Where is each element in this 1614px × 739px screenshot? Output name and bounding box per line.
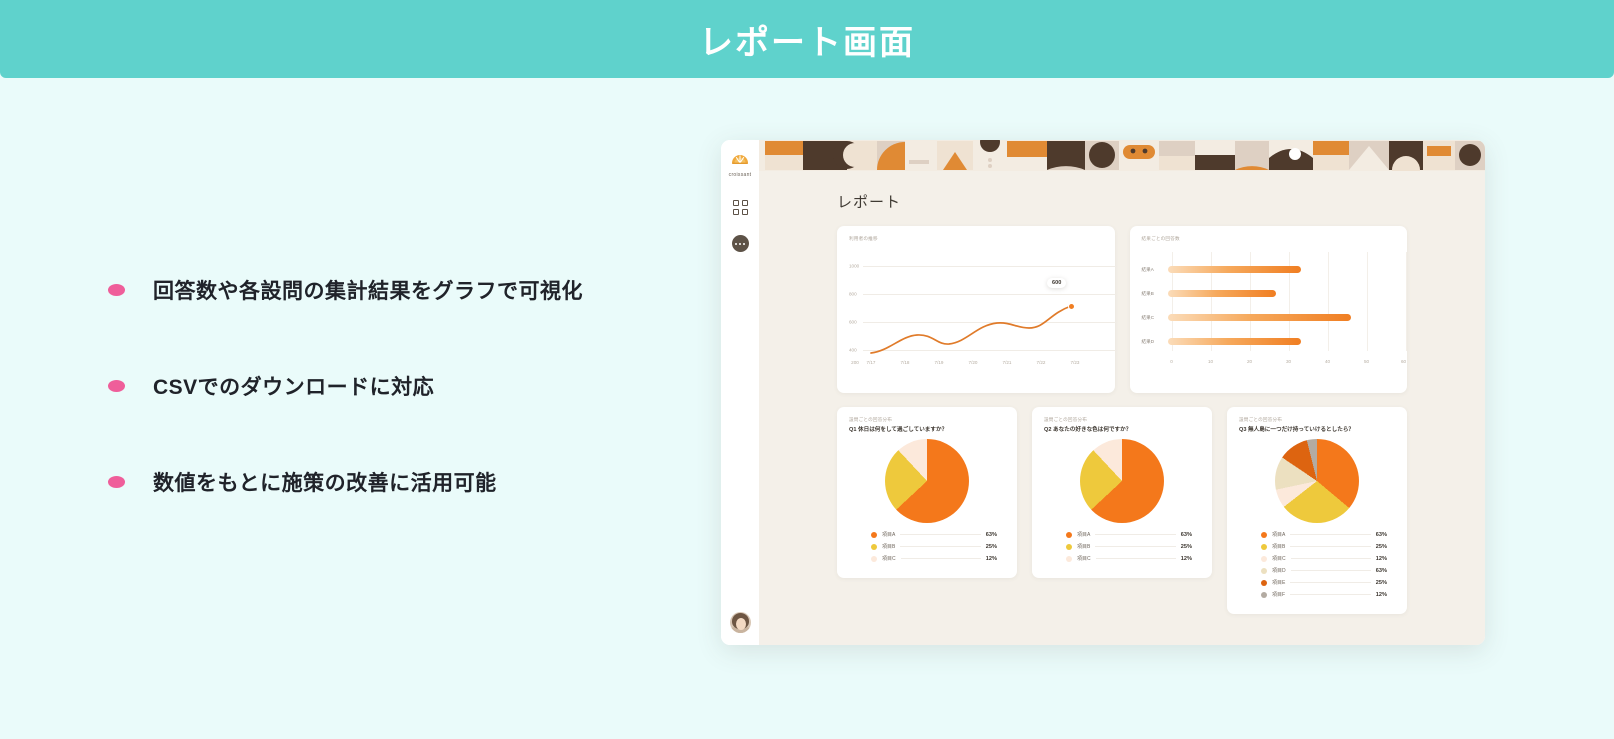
- logo-wordmark: croissant: [729, 172, 752, 178]
- legend-value: 63%: [1376, 568, 1387, 574]
- bar-chart-card: 結果ごとの回答数 結果A 結果B: [1130, 226, 1408, 393]
- legend-label: 項目B: [1272, 543, 1285, 550]
- pie-legend: 項目A 63% 項目B 25% 項目C 12%: [1044, 531, 1200, 569]
- legend-item: 項目B 25%: [871, 543, 997, 550]
- x-tick-label: 200: [851, 360, 859, 365]
- bullet-marker-icon: [108, 380, 125, 392]
- x-tick-label: 7/21: [1003, 360, 1012, 365]
- legend-value: 63%: [1181, 532, 1192, 538]
- bar-chart-title: 結果ごとの回答数: [1142, 236, 1396, 242]
- app-content: レポート 利用者の推移 1000 800 600 400: [759, 140, 1485, 645]
- line-chart-title: 利用者の推移: [849, 236, 1103, 242]
- legend-label: 項目C: [882, 555, 896, 562]
- legend-value: 25%: [1376, 544, 1387, 550]
- bullet-marker-icon: [108, 284, 125, 296]
- avatar[interactable]: [730, 612, 751, 633]
- legend-swatch-icon: [1261, 544, 1267, 550]
- pie-charts-row: 設問ごとの回答分布 Q1 休日は何をして過ごしていますか？ 項目A 63% 項目…: [759, 393, 1485, 614]
- legend-swatch-icon: [1066, 544, 1072, 550]
- legend-item: 項目C 12%: [871, 555, 997, 562]
- x-tick-label: 30: [1286, 359, 1291, 364]
- legend-swatch-icon: [1261, 532, 1267, 538]
- legend-swatch-icon: [871, 544, 877, 550]
- pie-chart-card-q2: 設問ごとの回答分布 Q2 あなたの好きな色は何ですか？ 項目A 63% 項目B …: [1032, 407, 1212, 578]
- pie-chart-graphic: [1275, 439, 1359, 523]
- legend-swatch-icon: [871, 532, 877, 538]
- bullet-text: 数値をもとに施策の改善に活用可能: [153, 467, 497, 497]
- legend-label: 項目B: [1077, 543, 1090, 550]
- legend-swatch-icon: [871, 556, 877, 562]
- table-row: 結果A: [1142, 266, 1410, 273]
- report-page-title: レポート: [837, 191, 1485, 212]
- list-item: 数値をもとに施策の改善に活用可能: [108, 467, 668, 497]
- bar-chart-plot: 結果A 結果B 結果C 結果D 0: [1142, 252, 1410, 364]
- legend-item: 項目C 12%: [1066, 555, 1192, 562]
- line-chart-card: 利用者の推移 1000 800 600 400 600 200: [837, 226, 1115, 393]
- legend-label: 項目A: [882, 531, 895, 538]
- legend-swatch-icon: [1261, 580, 1267, 586]
- legend-item: 項目A 63%: [871, 531, 997, 538]
- legend-value: 12%: [1376, 592, 1387, 598]
- pie-chart-graphic: [885, 439, 969, 523]
- sidebar-item-messages[interactable]: [732, 235, 749, 252]
- table-row: 結果C: [1142, 314, 1410, 321]
- line-endpoint-marker: [1068, 303, 1075, 310]
- x-tick-label: 0: [1170, 359, 1173, 364]
- legend-item: 項目B 25%: [1261, 543, 1387, 550]
- x-tick-label: 10: [1208, 359, 1213, 364]
- legend-label: 項目D: [1272, 567, 1286, 574]
- legend-label: 項目B: [882, 543, 895, 550]
- grid-icon: [733, 200, 748, 215]
- bar-category-label: 結果C: [1142, 315, 1168, 321]
- x-tick-label: 7/18: [901, 360, 910, 365]
- legend-label: 項目C: [1272, 555, 1286, 562]
- bar-category-label: 結果B: [1142, 291, 1168, 297]
- pie-legend: 項目A 63% 項目B 25% 項目C 12%: [1239, 531, 1395, 605]
- app-screenshot-mockup: croissant: [721, 140, 1485, 645]
- slide-header: レポート画面: [0, 0, 1614, 78]
- sidebar-item-dashboard[interactable]: [733, 200, 748, 215]
- page-title: レポート画面: [699, 15, 915, 64]
- x-tick-label: 60: [1401, 359, 1406, 364]
- pie-card-subtitle: 設問ごとの回答分布: [1044, 417, 1200, 423]
- legend-label: 項目A: [1077, 531, 1090, 538]
- legend-swatch-icon: [1066, 532, 1072, 538]
- legend-value: 12%: [1181, 556, 1192, 562]
- x-tick-label: 7/20: [969, 360, 978, 365]
- pie-chart-card-q1: 設問ごとの回答分布 Q1 休日は何をして過ごしていますか？ 項目A 63% 項目…: [837, 407, 1017, 578]
- legend-value: 12%: [1376, 556, 1387, 562]
- pie-card-subtitle: 設問ごとの回答分布: [1239, 417, 1395, 423]
- table-row: 結果D: [1142, 338, 1410, 345]
- x-tick-label: 40: [1325, 359, 1330, 364]
- top-charts-row: 利用者の推移 1000 800 600 400 600 200: [759, 226, 1485, 393]
- pie-legend: 項目A 63% 項目B 25% 項目C 12%: [849, 531, 1005, 569]
- legend-label: 項目C: [1077, 555, 1091, 562]
- decorative-banner: [759, 140, 1485, 171]
- legend-value: 12%: [986, 556, 997, 562]
- pie-chart-graphic: [1080, 439, 1164, 523]
- legend-item: 項目E 25%: [1261, 579, 1387, 586]
- legend-item: 項目B 25%: [1066, 543, 1192, 550]
- legend-item: 項目A 63%: [1066, 531, 1192, 538]
- pie-card-question: Q3 無人島に一つだけ持っていけるとしたら？: [1239, 425, 1395, 433]
- x-tick-label: 50: [1364, 359, 1369, 364]
- table-row: 結果B: [1142, 290, 1410, 297]
- bullet-text: CSVでのダウンロードに対応: [153, 371, 434, 401]
- pie-card-question: Q2 あなたの好きな色は何ですか？: [1044, 425, 1200, 433]
- x-tick-label: 7/22: [1037, 360, 1046, 365]
- legend-label: 項目F: [1272, 591, 1285, 598]
- pie-card-subtitle: 設問ごとの回答分布: [849, 417, 1005, 423]
- legend-value: 25%: [986, 544, 997, 550]
- legend-item: 項目C 12%: [1261, 555, 1387, 562]
- list-item: CSVでのダウンロードに対応: [108, 371, 668, 401]
- bar-category-label: 結果A: [1142, 267, 1168, 273]
- bar-category-label: 結果D: [1142, 339, 1168, 345]
- x-tick-label: 20: [1247, 359, 1252, 364]
- legend-swatch-icon: [1066, 556, 1072, 562]
- chat-icon: [732, 235, 749, 252]
- bullet-text: 回答数や各設問の集計結果をグラフで可視化: [153, 275, 583, 305]
- x-tick-label: 7/19: [935, 360, 944, 365]
- legend-value: 25%: [1181, 544, 1192, 550]
- x-tick-label: 7/17: [867, 360, 876, 365]
- legend-swatch-icon: [1261, 568, 1267, 574]
- pie-card-question: Q1 休日は何をして過ごしていますか？: [849, 425, 1005, 433]
- legend-value: 25%: [1376, 580, 1387, 586]
- legend-swatch-icon: [1261, 592, 1267, 598]
- feature-bullet-list: 回答数や各設問の集計結果をグラフで可視化 CSVでのダウンロードに対応 数値をも…: [108, 275, 668, 563]
- list-item: 回答数や各設問の集計結果をグラフで可視化: [108, 275, 668, 305]
- legend-item: 項目A 63%: [1261, 531, 1387, 538]
- pie-chart-card-q3: 設問ごとの回答分布 Q3 無人島に一つだけ持っていけるとしたら？ 項目A 63%…: [1227, 407, 1407, 614]
- legend-label: 項目A: [1272, 531, 1285, 538]
- line-chart-tooltip: 600: [1047, 278, 1066, 288]
- legend-value: 63%: [986, 532, 997, 538]
- legend-item: 項目D 63%: [1261, 567, 1387, 574]
- legend-label: 項目E: [1272, 579, 1285, 586]
- legend-swatch-icon: [1261, 556, 1267, 562]
- croissant-logo-icon: [730, 150, 750, 170]
- app-sidebar: croissant: [721, 140, 759, 645]
- bullet-marker-icon: [108, 476, 125, 488]
- legend-value: 63%: [1376, 532, 1387, 538]
- line-chart-plot: 1000 800 600 400 600 200 7/17 7/18 7/19 …: [849, 252, 1117, 364]
- legend-item: 項目F 12%: [1261, 591, 1387, 598]
- x-tick-label: 7/23: [1071, 360, 1080, 365]
